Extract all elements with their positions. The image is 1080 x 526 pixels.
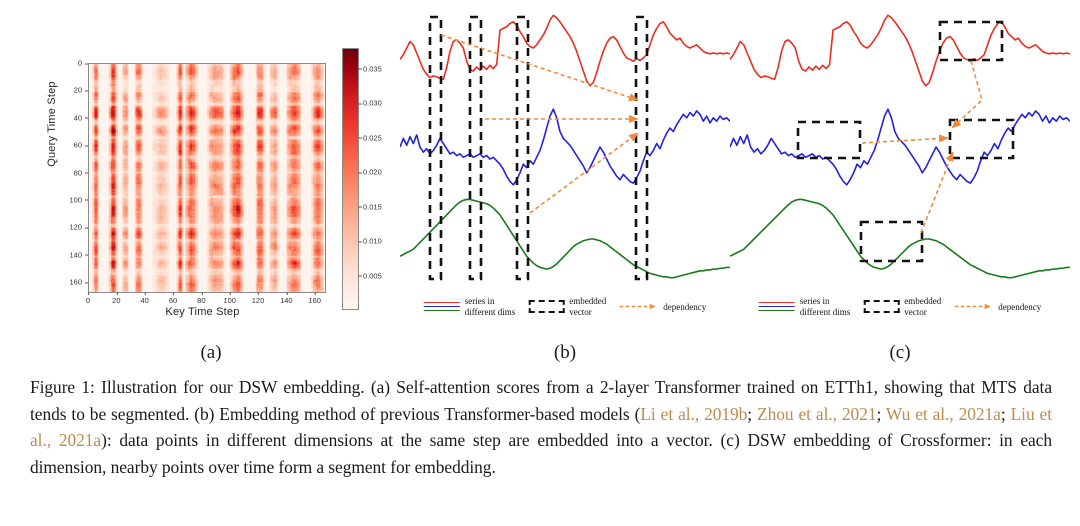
heatmap-y-tick: 100 — [60, 195, 82, 204]
heatmap-y-tick: 140 — [60, 250, 82, 259]
dependency-arrow — [952, 61, 982, 128]
panel-a-heatmap: Query Time Step Key Time Step 0204060801… — [22, 0, 400, 372]
panel-b-svg — [400, 0, 730, 300]
panel-b-legend: series in different dims embedded vector — [400, 296, 730, 330]
heatmap-x-tick: 20 — [112, 296, 120, 305]
panel-c-series: series in different dims embedded vector — [730, 0, 1070, 372]
panel-b-series-lines — [400, 15, 730, 277]
panel-b-embedded-vector-boxes — [430, 17, 647, 279]
legend-line-green-b — [424, 310, 460, 312]
embedded-vector-box — [950, 120, 1013, 158]
heatmap-y-tick: 160 — [60, 278, 82, 287]
legend-embedded-line2-b: vector — [569, 307, 606, 318]
colorbar-tick: 0.025 — [363, 133, 382, 142]
colorbar-tick: 0.030 — [363, 99, 382, 108]
panel-c-series-lines — [730, 15, 1070, 277]
heatmap-x-tick: 120 — [252, 296, 265, 305]
legend-embedded-line2-c: vector — [904, 307, 941, 318]
legend-embedded-item-c: embedded vector — [863, 296, 941, 317]
legend-series-line2-c: different dims — [800, 307, 851, 318]
caption-text: ; — [747, 404, 757, 424]
figure-caption-prefix: Figure 1: — [30, 377, 95, 397]
heatmap-x-tick: 140 — [280, 296, 293, 305]
citation-link[interactable]: Li et al., 2019b — [640, 404, 747, 424]
legend-line-red-b — [424, 302, 460, 304]
legend-series-text-c: series in different dims — [800, 296, 851, 317]
panels-row: Query Time Step Key Time Step 0204060801… — [0, 0, 1080, 372]
series-line-dim-3 — [400, 199, 730, 277]
legend-line-blue-b — [424, 306, 460, 308]
heatmap-x-axis-label: Key Time Step — [80, 306, 325, 318]
heatmap-x-tick: 160 — [308, 296, 321, 305]
heatmap-y-tick: 60 — [60, 141, 82, 150]
legend-series-item-c: series in different dims — [759, 296, 851, 317]
legend-series-text-b: series in different dims — [465, 296, 516, 317]
panel-c-dependency-arrows — [862, 61, 982, 233]
dependency-arrow — [862, 138, 948, 143]
legend-dependency-item-b: dependency — [619, 302, 706, 312]
series-line-dim-2 — [400, 109, 730, 185]
legend-line-green-c — [759, 310, 795, 312]
dependency-arrow — [530, 133, 638, 213]
legend-embedded-text-c: embedded vector — [904, 296, 941, 317]
heatmap-wrapper: Query Time Step Key Time Step 0204060801… — [22, 0, 400, 340]
legend-series-line1-b: series in — [465, 296, 516, 307]
legend-series-line1-c: series in — [800, 296, 851, 307]
citation-link[interactable]: Zhou et al., 2021 — [757, 404, 876, 424]
heatmap-y-tick: 0 — [60, 59, 82, 68]
series-line-dim-2 — [730, 109, 1070, 185]
colorbar-tick: 0.005 — [363, 271, 382, 280]
series-line-dim-1 — [400, 15, 730, 86]
heatmap-y-tick: 120 — [60, 223, 82, 232]
colorbar-tick: 0.020 — [363, 168, 382, 177]
citation-link[interactable]: Wu et al., 2021a — [886, 404, 1001, 424]
heatmap-x-tick: 100 — [223, 296, 236, 305]
panel-c-svg — [730, 0, 1070, 300]
legend-line-red-c — [759, 302, 795, 304]
panel-b-series: series in different dims embedded vector — [400, 0, 730, 372]
heatmap-x-tick: 40 — [140, 296, 148, 305]
colorbar-tick: 0.010 — [363, 237, 382, 246]
series-line-dim-3 — [730, 199, 1070, 277]
embedded-vector-box — [940, 22, 1002, 60]
panel-c-legend: series in different dims embedded vector — [730, 296, 1070, 330]
legend-embedded-line1-b: embedded — [569, 296, 606, 307]
series-line-dim-1 — [730, 15, 1070, 86]
heatmap-x-tick: 80 — [197, 296, 205, 305]
legend-arrow-icon-c — [954, 302, 994, 311]
legend-dependency-text-c: dependency — [998, 302, 1041, 312]
heatmap-canvas — [89, 64, 325, 292]
heatmap-y-tick: 40 — [60, 113, 82, 122]
dependency-arrow — [921, 152, 953, 233]
legend-embedded-text-b: embedded vector — [569, 296, 606, 317]
embedded-vector-box — [470, 17, 481, 279]
legend-embedded-item-b: embedded vector — [528, 296, 606, 317]
heatmap-x-tick: 60 — [169, 296, 177, 305]
legend-dashed-box-icon-c — [863, 300, 899, 313]
legend-dashed-box-icon-b — [528, 300, 564, 313]
heatmap-y-tick: 20 — [60, 86, 82, 95]
caption-text: ; — [1001, 404, 1011, 424]
legend-embedded-line1-c: embedded — [904, 296, 941, 307]
heatmap-y-tick: 80 — [60, 168, 82, 177]
legend-series-item-b: series in different dims — [424, 296, 516, 317]
colorbar-tick: 0.015 — [363, 202, 382, 211]
heatmap-plot-area — [88, 63, 326, 293]
caption-text: ): data points in different dimensions a… — [30, 430, 1052, 477]
legend-dependency-item-c: dependency — [954, 302, 1041, 312]
legend-series-line2-b: different dims — [465, 307, 516, 318]
heatmap-colorbar — [342, 48, 359, 310]
legend-dependency-text-b: dependency — [663, 302, 706, 312]
figure-container: Query Time Step Key Time Step 0204060801… — [0, 0, 1080, 526]
embedded-vector-box — [517, 17, 528, 279]
heatmap-y-axis-label: Query Time Step — [46, 54, 58, 194]
embedded-vector-box — [861, 222, 922, 261]
panel-c-label: (c) — [730, 342, 1070, 364]
colorbar-tick: 0.035 — [363, 64, 382, 73]
legend-series-swatch-c — [759, 302, 795, 312]
panel-b-label: (b) — [400, 342, 730, 364]
panel-a-label: (a) — [22, 342, 400, 364]
figure-caption: Figure 1: Illustration for our DSW embed… — [30, 374, 1052, 480]
caption-text: ; — [877, 404, 886, 424]
embedded-vector-box — [798, 122, 860, 158]
legend-arrow-icon-b — [619, 302, 659, 311]
legend-series-swatch-b — [424, 302, 460, 312]
figure-caption-body: Illustration for our DSW embedding. (a) … — [30, 377, 1052, 477]
legend-line-blue-c — [759, 306, 795, 308]
heatmap-x-tick: 0 — [86, 296, 90, 305]
